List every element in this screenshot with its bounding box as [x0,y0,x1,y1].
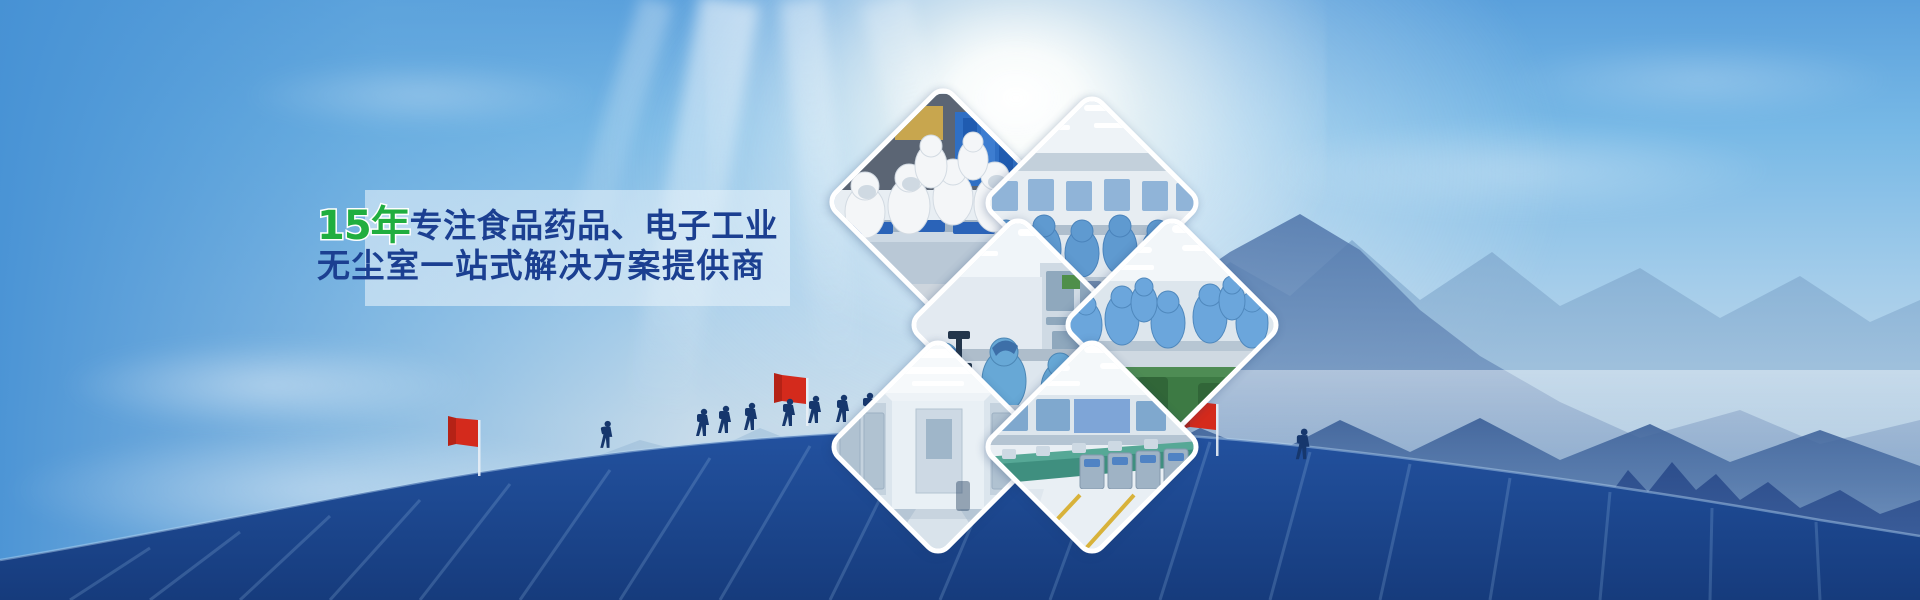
climber-icon [808,396,821,423]
photo-collage [840,95,1290,475]
flag-left-icon [448,416,481,476]
headline-line-1: 15年专注食品药品、电子工业 [317,203,817,245]
hero-banner: 15年专注食品药品、电子工业 无尘室一站式解决方案提供商 [0,0,1920,600]
headline-line-1-text: 专注食品药品、电子工业 [410,206,779,245]
climber-icon [782,399,795,426]
headline-block: 15年专注食品药品、电子工业 无尘室一站式解决方案提供商 [317,203,817,287]
climber-icon [718,406,731,433]
climber-icon [600,421,612,448]
headline-line-2: 无尘室一站式解决方案提供商 [317,245,817,287]
climber-icon [696,409,709,436]
climber-icon [744,403,757,430]
headline-line-2-text: 无尘室一站式解决方案提供商 [317,246,766,285]
years-badge: 15年 [317,203,410,249]
